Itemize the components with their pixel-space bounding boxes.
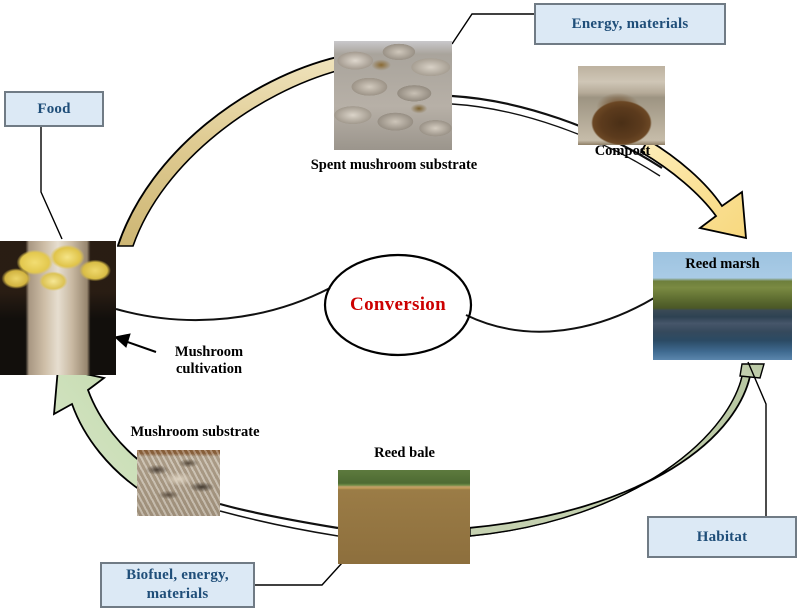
label-box-food[interactable]: Food xyxy=(4,91,104,127)
caption-reed-bale: Reed bale xyxy=(332,445,477,462)
annotation-mushroom-cultivation: Mushroom cultivation xyxy=(154,344,264,378)
arc-bottom-left xyxy=(220,504,338,536)
label-box-energy-materials[interactable]: Energy, materials xyxy=(534,3,726,45)
leader-food xyxy=(41,127,62,239)
photo-compost xyxy=(578,66,665,145)
caption-mushroom-substrate: Mushroom substrate xyxy=(110,424,280,441)
leader-energy-materials xyxy=(452,14,534,44)
caption-compost: Compost xyxy=(565,143,680,160)
ribbon-reedmarsh-to-reedbale xyxy=(470,364,764,536)
photo-mushroom-substrate xyxy=(137,450,220,516)
arc-inner-right xyxy=(466,298,654,332)
figure-canvas: Spent mushroom substrate Compost Reed ma… xyxy=(0,0,800,615)
photo-reed-bale xyxy=(338,470,470,564)
ribbon-mushroom-to-spent xyxy=(118,57,340,246)
photo-mushroom-cultivation xyxy=(0,241,116,375)
label-box-habitat[interactable]: Habitat xyxy=(647,516,797,558)
photo-spent-mushroom-substrate xyxy=(334,41,452,150)
caption-spent-mushroom-substrate: Spent mushroom substrate xyxy=(274,157,514,174)
label-box-biofuel-energy-materials[interactable]: Biofuel, energy, materials xyxy=(100,562,255,608)
conversion-label: Conversion xyxy=(325,294,471,316)
leader-biofuel xyxy=(255,563,342,585)
leader-habitat xyxy=(748,362,766,516)
arrow-mushroom-cultivation xyxy=(115,334,156,352)
arc-inner-left xyxy=(116,288,330,320)
arc-outer-top-left xyxy=(118,57,338,246)
arc-bottom-right xyxy=(470,364,752,536)
caption-reed-marsh: Reed marsh xyxy=(653,256,792,273)
